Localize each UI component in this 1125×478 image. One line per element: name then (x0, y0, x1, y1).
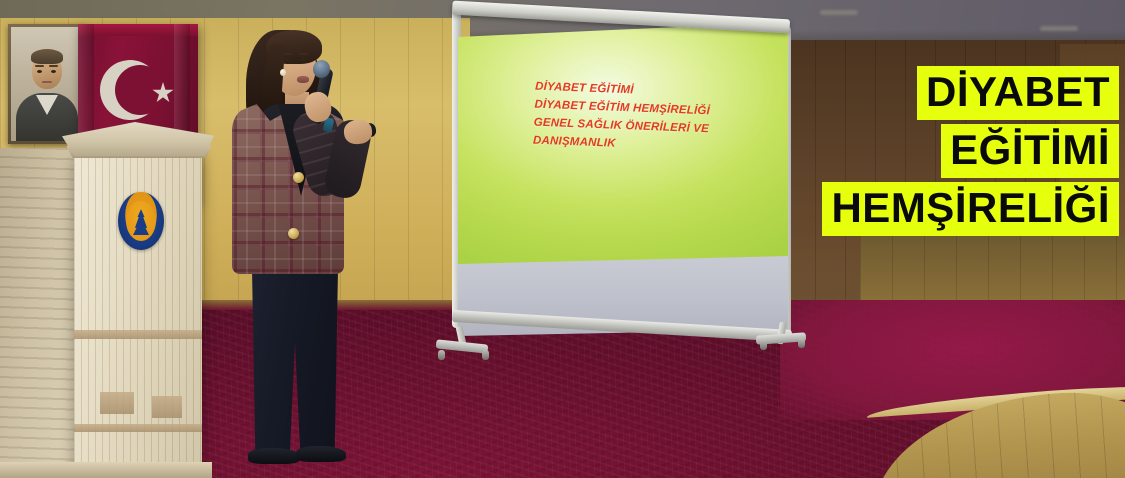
screen-caster (798, 338, 805, 348)
screen-caster (760, 340, 767, 350)
podium-trim-block (152, 396, 182, 418)
podium-trim-band (74, 330, 202, 339)
caption-line-3: HEMŞİRELİĞİ (822, 182, 1119, 236)
portrait-brow-right (49, 65, 58, 67)
crescent-icon (100, 60, 160, 120)
speaker-earring (280, 69, 286, 76)
portrait-hair (31, 49, 63, 64)
ceiling-light-icon (1040, 26, 1078, 31)
speaker-mouth (297, 76, 309, 83)
speaker-brow-right (299, 53, 308, 55)
speaker-shoe-left (248, 448, 300, 464)
caption-overlay: DİYABET EĞİTİMİ HEMŞİRELİĞİ (822, 66, 1119, 236)
portrait-canvas (11, 27, 83, 141)
speaker-eye-right (300, 58, 306, 61)
caption-line-2: EĞİTİMİ (941, 124, 1119, 178)
photo-scene: DİYABET EĞİTİMİ DİYABET EĞİTİM HEMŞİRELİ… (0, 0, 1125, 478)
podium-base (0, 462, 212, 478)
slide-text-block: DİYABET EĞİTİMİ DİYABET EĞİTİM HEMŞİRELİ… (533, 78, 766, 159)
speaker-brow-left (283, 53, 292, 55)
wall-right-lower-band (860, 236, 1125, 302)
portrait-mouth (42, 81, 52, 83)
screen-roller-bar (452, 1, 790, 34)
screen-caster (482, 350, 489, 360)
podium-left-face (0, 148, 78, 478)
ataturk-portrait (8, 24, 86, 144)
portrait-eye-left (37, 70, 42, 73)
portrait-brow-left (35, 65, 44, 67)
projection-screen: DİYABET EĞİTİMİ DİYABET EĞİTİM HEMŞİRELİ… (430, 2, 790, 362)
ceiling-light-icon (820, 10, 858, 15)
podium-trim-band (74, 424, 202, 432)
speaker-jacket-button (288, 228, 299, 239)
speaker-jacket-button (293, 172, 304, 183)
caption-line-1: DİYABET (917, 66, 1119, 120)
speaker-shoe-right (296, 446, 346, 462)
podium-trim-block (100, 392, 134, 414)
screen-caster (438, 350, 445, 360)
speaker-eye-left (284, 58, 290, 61)
institution-emblem (118, 192, 164, 250)
portrait-eye-right (51, 70, 56, 73)
